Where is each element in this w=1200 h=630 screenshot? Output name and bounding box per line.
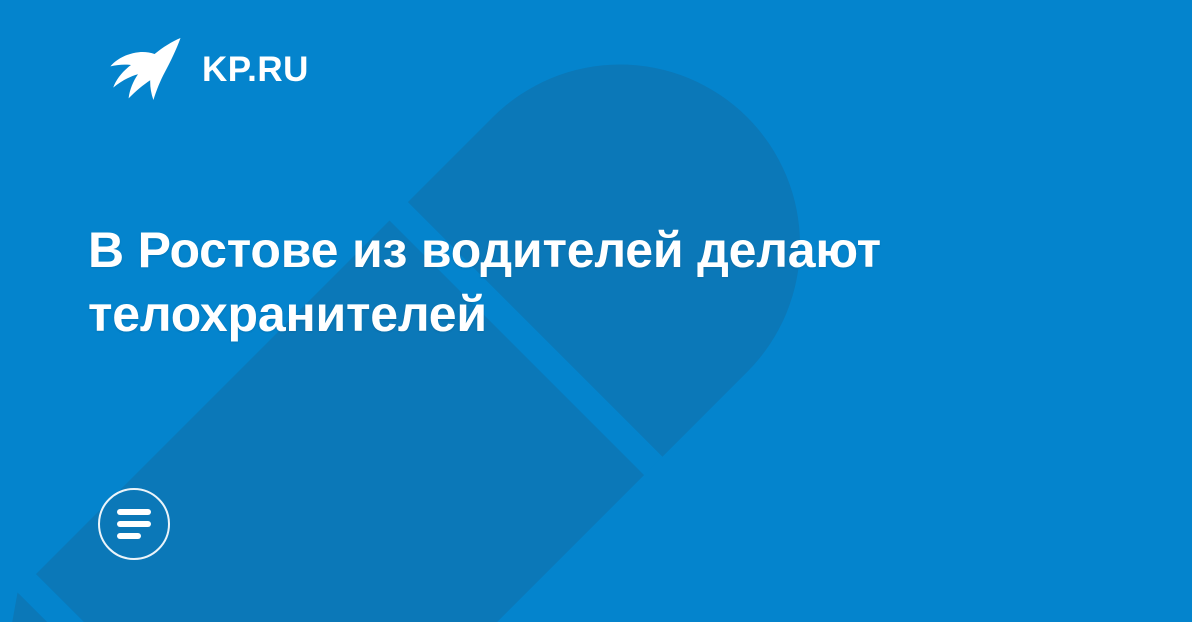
card-canvas: KP.RU В Ростове из водителей делают тело…	[0, 0, 1192, 622]
swallow-bird-icon	[108, 36, 182, 102]
hamburger-menu-icon-bar-2	[117, 521, 151, 527]
page-title: В Ростове из водителей делают телохранит…	[88, 218, 1048, 346]
brand-wordmark: KP.RU	[202, 52, 309, 87]
hamburger-menu-icon-bar-1	[117, 509, 151, 515]
menu-button[interactable]	[98, 488, 170, 560]
article-share-card: KP.RU В Ростове из водителей делают тело…	[0, 0, 1200, 630]
hamburger-menu-icon-bar-3	[117, 533, 141, 539]
brand-logo[interactable]: KP.RU	[108, 36, 309, 102]
